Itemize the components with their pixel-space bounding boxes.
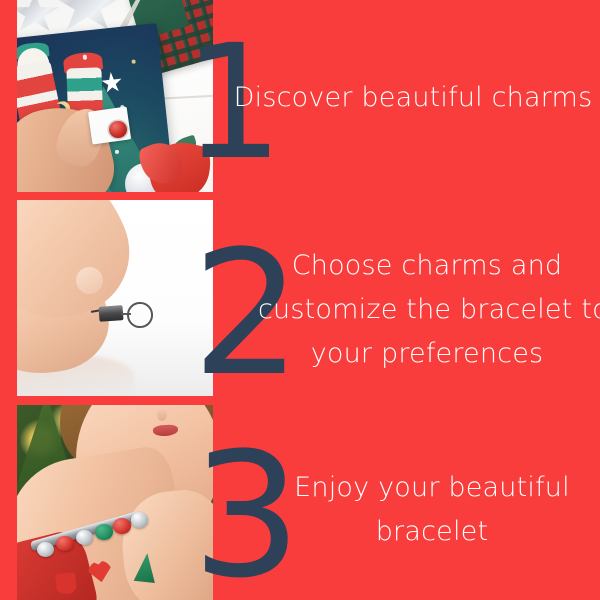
step-1-text-line-1: Discover beautiful charms — [230, 78, 596, 118]
bracelet-charm-green-1 — [95, 524, 113, 540]
bracelet-charm-silver-1 — [37, 542, 55, 558]
step-3-image-panel — [17, 405, 213, 600]
bracelet-charm-silver-3 — [131, 512, 149, 528]
fingernail — [76, 267, 103, 294]
red-charm-bead — [109, 121, 127, 138]
girl-nose — [157, 408, 167, 421]
clasp-barrel — [99, 305, 123, 321]
calendar-snow-dot-4 — [115, 149, 119, 153]
girl-with-bracelet-photo — [17, 405, 213, 600]
step-3-text-line-2: bracelet — [272, 510, 592, 554]
step-1-text: Discover beautiful charms — [230, 78, 596, 118]
charm-clasp-photo — [17, 200, 213, 396]
step-2-text: Choose charms and customize the bracelet… — [258, 244, 596, 376]
step-2-text-line-1: Choose charms and — [258, 244, 596, 288]
step-2-text-line-3: your preferences — [258, 332, 596, 376]
step-2-text-line-2: customize the bracelet to — [258, 288, 596, 332]
step-2-image-panel — [17, 200, 213, 396]
clasp-jump-ring — [126, 301, 153, 328]
step-3-text-line-1: Enjoy your beautiful — [272, 466, 592, 510]
bracelet-charm-red-1 — [56, 536, 74, 552]
step-3-text: Enjoy your beautiful bracelet — [272, 466, 592, 554]
girl-lips — [152, 424, 177, 436]
stocking-charm — [55, 572, 77, 595]
bracelet-charm-red-2 — [113, 518, 131, 534]
calendar-snow-dot-6 — [131, 59, 136, 64]
poster-canvas: 1 2 3 Discover beautiful charms Choose c… — [0, 0, 600, 600]
